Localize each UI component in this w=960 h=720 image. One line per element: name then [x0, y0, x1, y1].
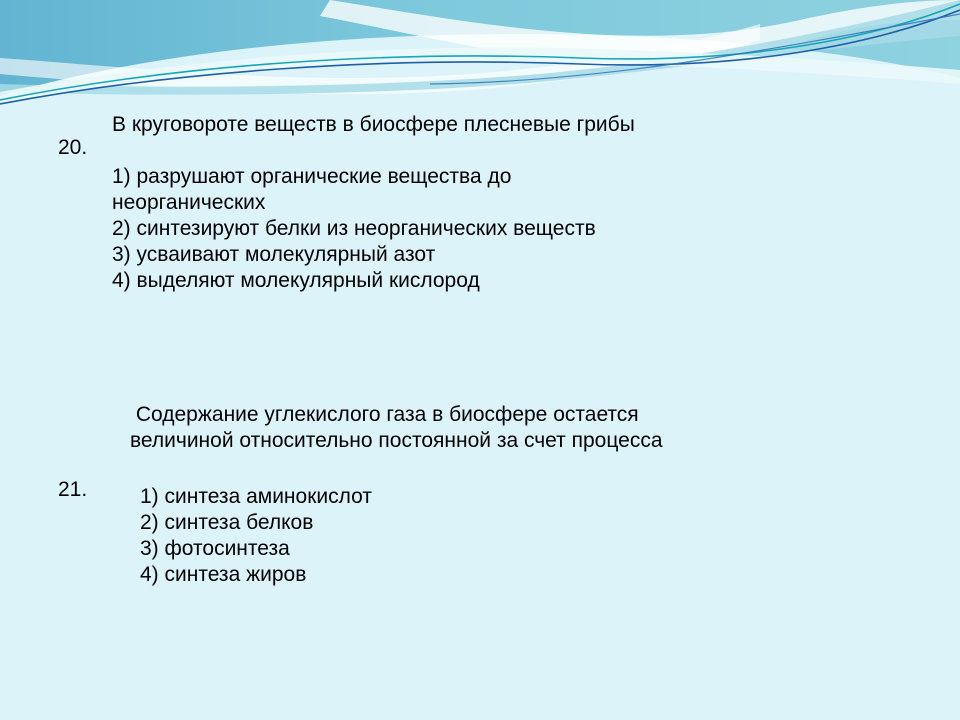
- slide: 20. В круговороте веществ в биосфере пле…: [0, 0, 960, 720]
- option-item[interactable]: 3) фотосинтеза: [140, 536, 790, 562]
- question-number-21: 21.: [58, 478, 87, 502]
- question-stem-20: В круговороте веществ в биосфере плеснев…: [112, 112, 752, 138]
- option-item[interactable]: 2) синтеза белков: [140, 510, 790, 536]
- option-item[interactable]: 1) разрушают органические вещества до не…: [112, 164, 752, 216]
- question-options-21: 1) синтеза аминокислот 2) синтеза белков…: [130, 484, 790, 588]
- option-item[interactable]: 3) усваивают молекулярный азот: [112, 242, 752, 268]
- question-options-20: 1) разрушают органические вещества до не…: [112, 164, 752, 294]
- question-body-20: В круговороте веществ в биосфере плеснев…: [112, 112, 752, 294]
- question-body-21: Содержание углекислого газа в биосфере о…: [130, 402, 790, 588]
- option-item[interactable]: 1) синтеза аминокислот: [140, 484, 790, 510]
- slide-content: 20. В круговороте веществ в биосфере пле…: [0, 0, 960, 720]
- option-item[interactable]: 2) синтезируют белки из неорганических в…: [112, 216, 752, 242]
- option-item[interactable]: 4) синтеза жиров: [140, 562, 790, 588]
- option-item[interactable]: 4) выделяют молекулярный кислород: [112, 268, 752, 294]
- question-stem-21: Содержание углекислого газа в биосфере о…: [130, 402, 790, 454]
- question-number-20: 20.: [58, 136, 87, 160]
